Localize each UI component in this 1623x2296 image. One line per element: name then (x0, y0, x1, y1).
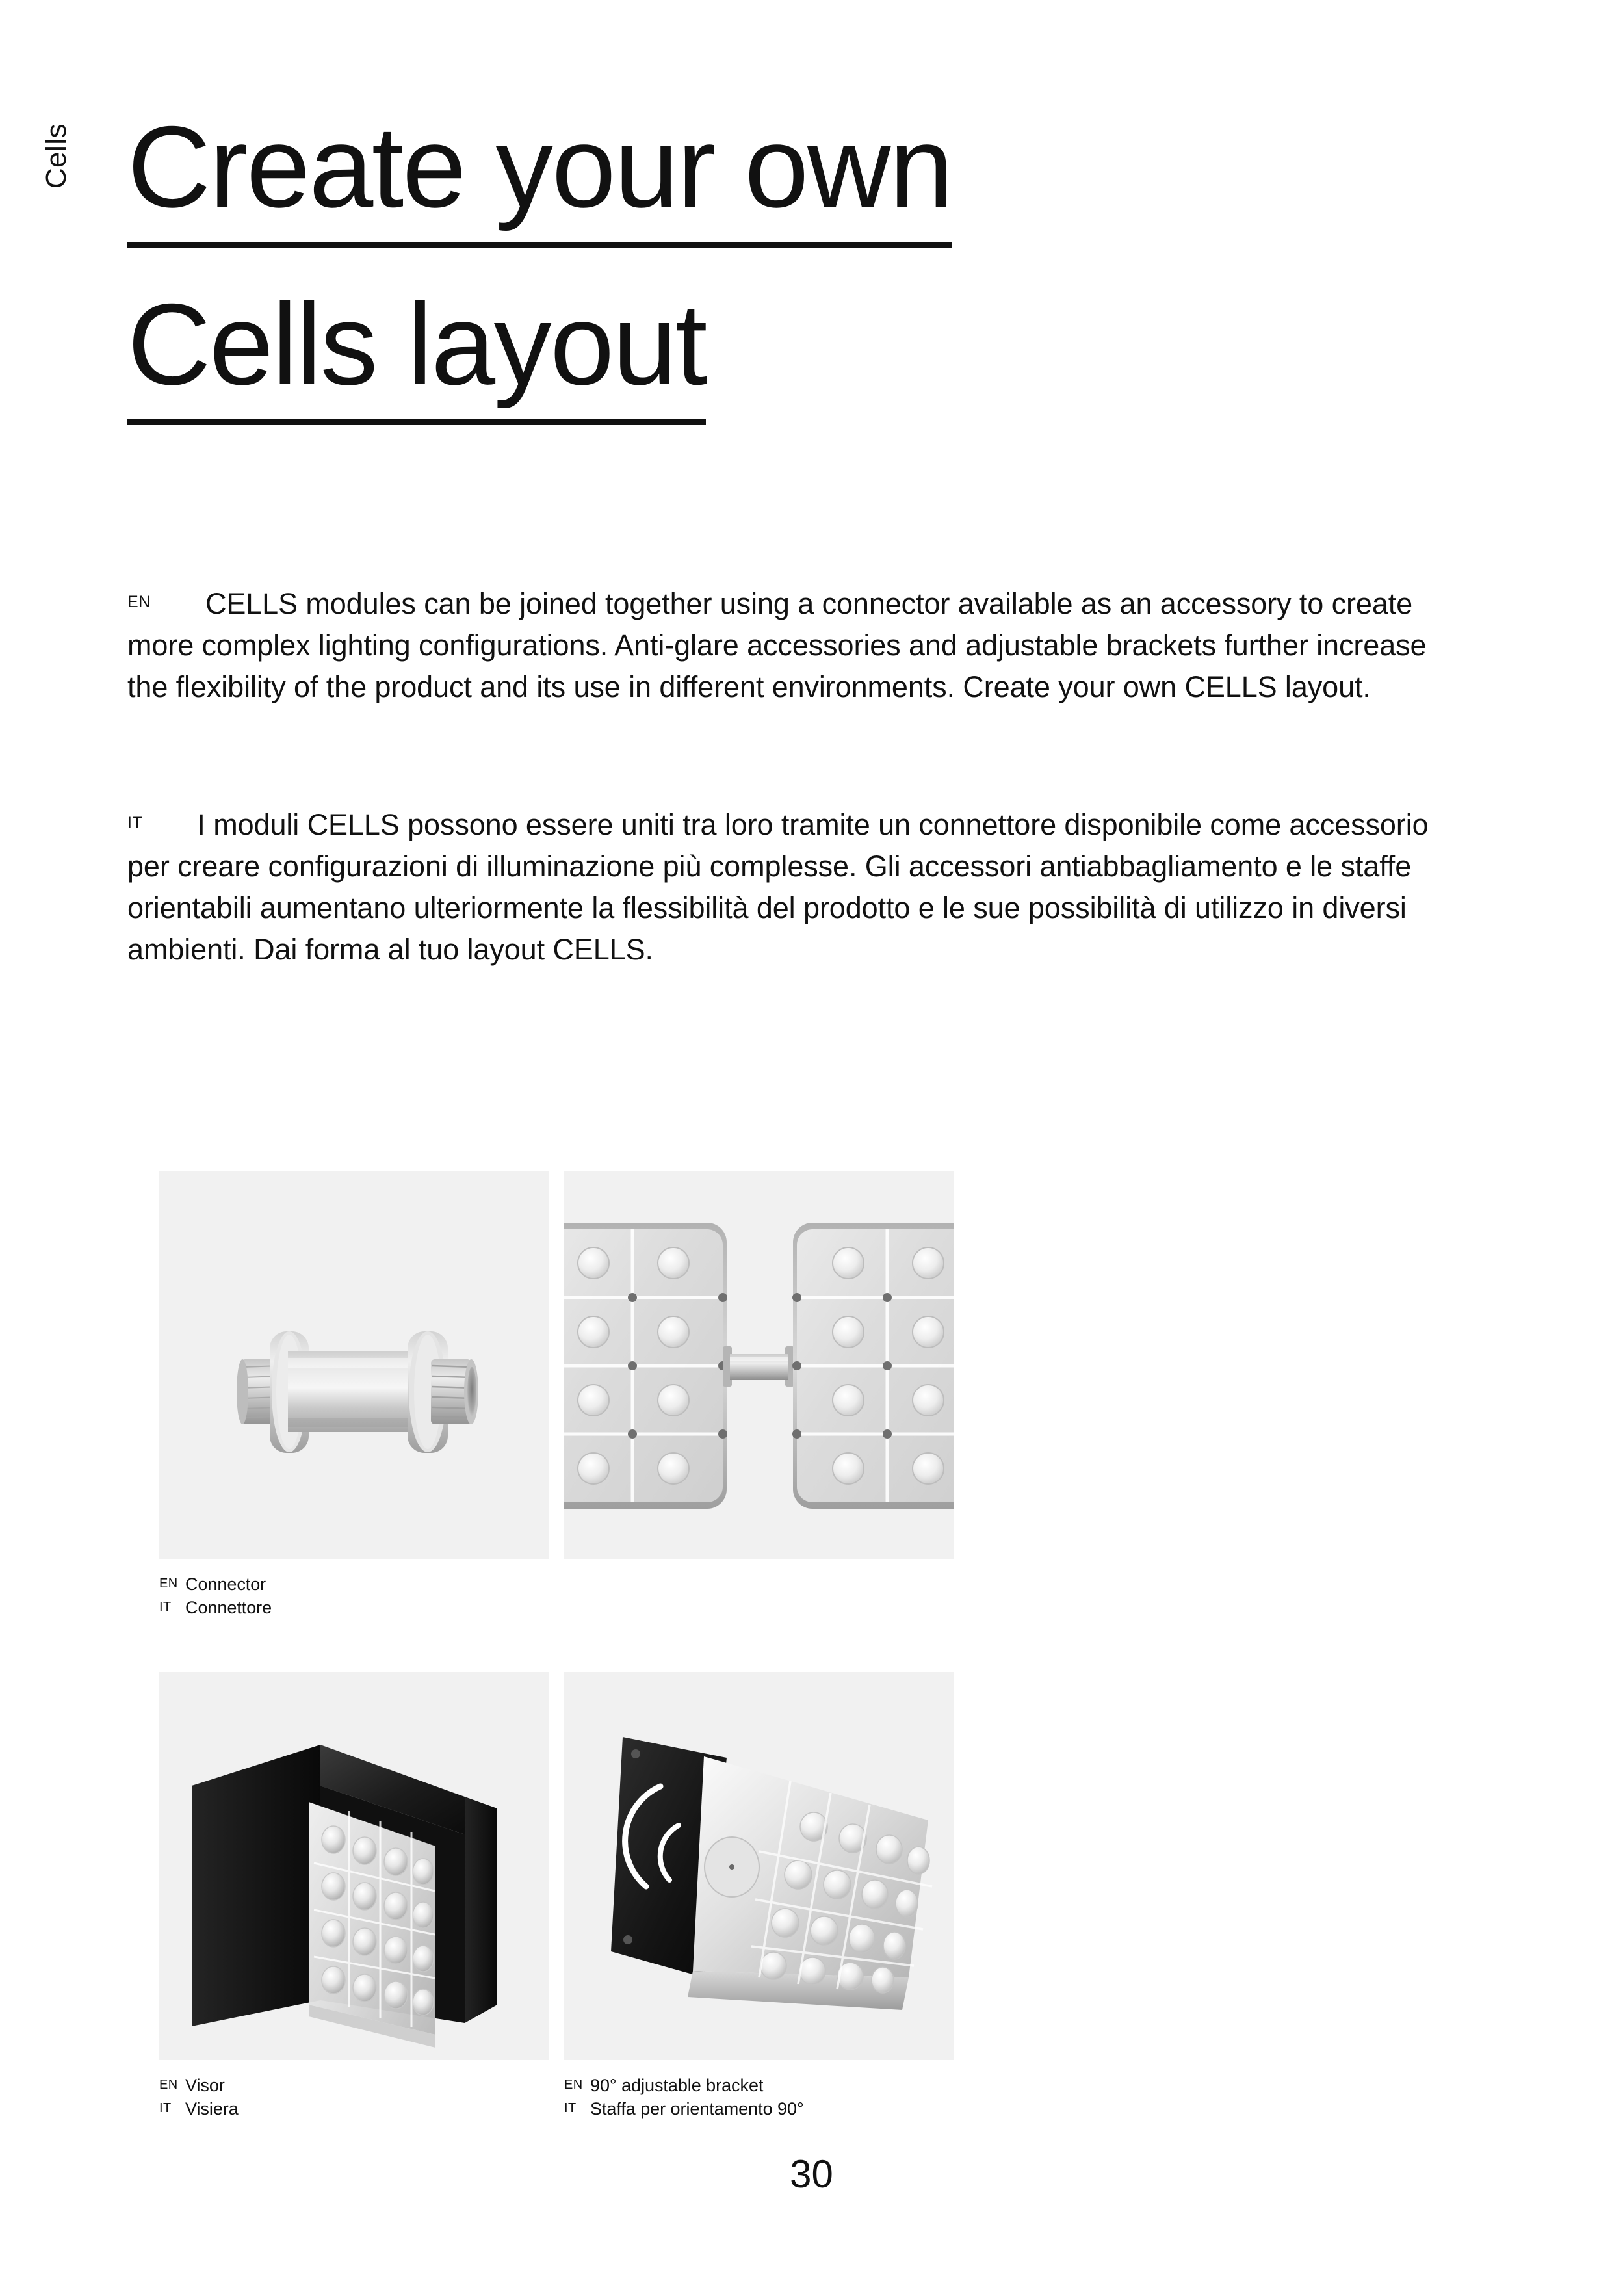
caption-row-en: ENConnector (159, 1573, 549, 1597)
caption-text-it: Staffa per orientamento 90° (590, 2099, 804, 2119)
language-tag-it: IT (127, 814, 142, 832)
page-number: 30 (0, 2152, 1623, 2197)
figure-adjustable-bracket-caption: EN90° adjustable bracket ITStaffa per or… (564, 2074, 954, 2120)
visor-hood-right (465, 1797, 497, 2023)
led-module-left (564, 1223, 727, 1509)
figure-connector: ENConnector ITConnettore (159, 1171, 549, 1619)
caption-language-it: IT (564, 2100, 590, 2117)
body-paragraph-it-text: I moduli CELLS possono essere uniti tra … (127, 808, 1429, 966)
visor-illustration (159, 1672, 549, 2060)
page-title-line-1: Create your own (127, 109, 1492, 248)
page-title: Create your own Cells layout (127, 109, 1492, 425)
figure-joined-modules-caption (564, 1573, 954, 1619)
bracket-hole-top (631, 1749, 640, 1758)
caption-row-en (564, 1573, 954, 1597)
caption-language-en: EN (564, 2076, 590, 2093)
connector-tube-body (288, 1351, 423, 1432)
figure-visor-caption: ENVisor ITVisiera (159, 2074, 549, 2120)
joined-modules-illustration (564, 1171, 954, 1559)
figure-visor: ENVisor ITVisiera (159, 1672, 549, 2120)
vertical-section-label-text: Cells (40, 124, 73, 189)
body-paragraph-en: ENCELLS modules can be joined together u… (127, 583, 1453, 708)
document-page: Cells Create your own Cells layout ENCEL… (0, 0, 1623, 2296)
caption-row-en: EN90° adjustable bracket (564, 2074, 954, 2098)
caption-text-it: Connettore (185, 1598, 272, 1617)
connector-illustration (159, 1171, 549, 1559)
caption-language-it: IT (159, 1598, 185, 1615)
joined-modules-photo (564, 1171, 954, 1559)
bracket-led-module (688, 1756, 932, 2010)
caption-row-it (564, 1597, 954, 1620)
figure-joined-modules (564, 1171, 954, 1619)
language-tag-en: EN (127, 593, 151, 611)
page-title-line-2-text: Cells layout (127, 287, 706, 425)
figure-connector-caption: ENConnector ITConnettore (159, 1573, 549, 1619)
caption-language-en: EN (159, 2076, 185, 2093)
caption-row-it: ITStaffa per orientamento 90° (564, 2098, 954, 2121)
visor-hood-left (192, 1745, 320, 2026)
adjustable-bracket-illustration (564, 1672, 954, 2060)
caption-row-en: ENVisor (159, 2074, 549, 2098)
caption-text-en: Visor (185, 2076, 225, 2095)
visor-photo (159, 1672, 549, 2060)
connector-thread-right (431, 1359, 478, 1424)
page-title-line-1-text: Create your own (127, 109, 952, 248)
body-paragraph-en-text: CELLS modules can be joined together usi… (127, 587, 1426, 703)
caption-text-en: Connector (185, 1574, 266, 1594)
page-title-line-2: Cells layout (127, 287, 1492, 425)
caption-language-en: EN (159, 1575, 185, 1592)
bracket-pivot-screw (729, 1864, 734, 1870)
body-paragraph-it: ITI moduli CELLS possono essere uniti tr… (127, 804, 1453, 971)
caption-text-en: 90° adjustable bracket (590, 2076, 763, 2095)
led-module-right (792, 1223, 954, 1509)
adjustable-bracket-photo (564, 1672, 954, 2060)
caption-language-it: IT (159, 2100, 185, 2117)
figure-adjustable-bracket: EN90° adjustable bracket ITStaffa per or… (564, 1672, 954, 2120)
bracket-hole-bottom (623, 1935, 632, 1944)
caption-row-it: ITConnettore (159, 1597, 549, 1620)
connector-link (723, 1346, 794, 1387)
vertical-section-label: Cells (40, 124, 86, 254)
caption-text-it: Visiera (185, 2099, 239, 2119)
connector-photo (159, 1171, 549, 1559)
caption-row-it: ITVisiera (159, 2098, 549, 2121)
